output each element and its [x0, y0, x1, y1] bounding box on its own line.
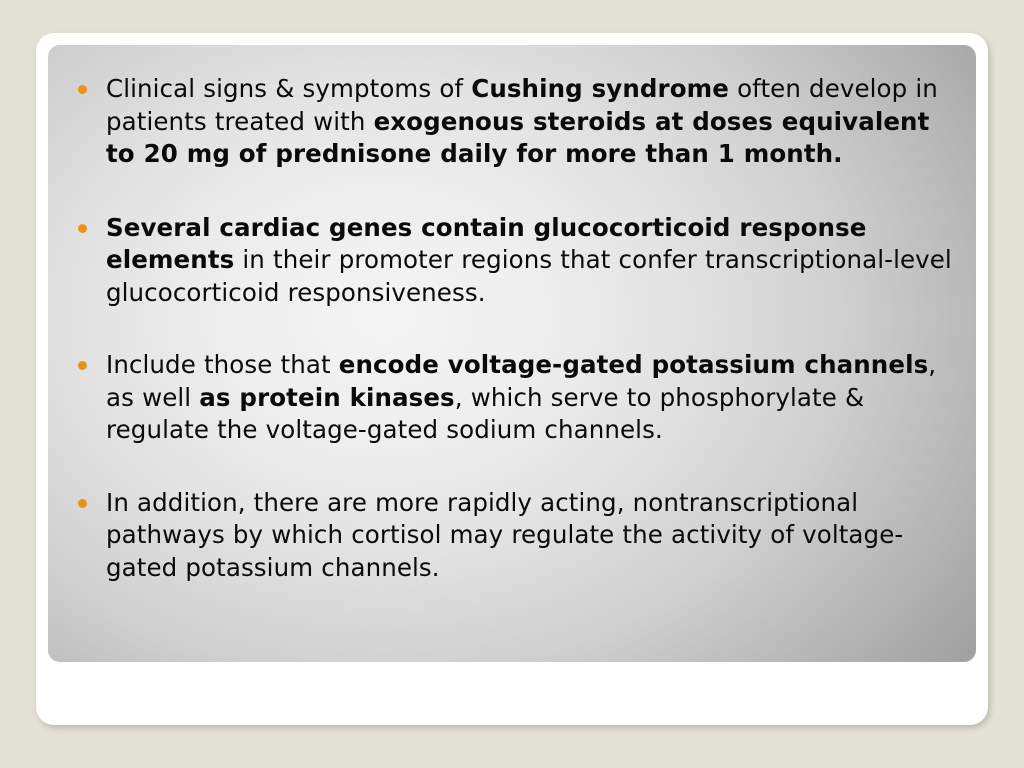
bullet-text: In addition, there are more rapidly acti…	[106, 487, 964, 585]
text-run-bold: Cushing syndrome	[471, 74, 729, 103]
text-run: Clinical signs & symptoms of	[106, 74, 471, 103]
slide-content-panel: Clinical signs & symptoms of Cushing syn…	[48, 45, 976, 662]
bullet-text: Clinical signs & symptoms of Cushing syn…	[106, 73, 964, 171]
bullet-text: Include those that encode voltage-gated …	[106, 349, 964, 447]
bullet-dot-icon	[78, 85, 87, 94]
bullet-dot-icon	[78, 361, 87, 370]
bullet-dot-icon	[78, 499, 87, 508]
bullet-potassium-channels: Include those that encode voltage-gated …	[48, 349, 976, 447]
bullet-list: Clinical signs & symptoms of Cushing syn…	[48, 45, 976, 584]
text-run-bold: as protein kinases	[199, 383, 454, 412]
bullet-cushing-syndrome: Clinical signs & symptoms of Cushing syn…	[48, 73, 976, 171]
bullet-nontranscriptional: In addition, there are more rapidly acti…	[48, 487, 976, 585]
bullet-text: Several cardiac genes contain glucocorti…	[106, 212, 964, 310]
bullet-cardiac-genes: Several cardiac genes contain glucocorti…	[48, 212, 976, 310]
text-run-bold: encode voltage-gated potassium channels	[339, 350, 929, 379]
bullet-dot-icon	[78, 224, 87, 233]
slide-stage: Clinical signs & symptoms of Cushing syn…	[0, 0, 1024, 768]
text-run: In addition, there are more rapidly acti…	[106, 488, 903, 582]
text-run: Include those that	[106, 350, 339, 379]
